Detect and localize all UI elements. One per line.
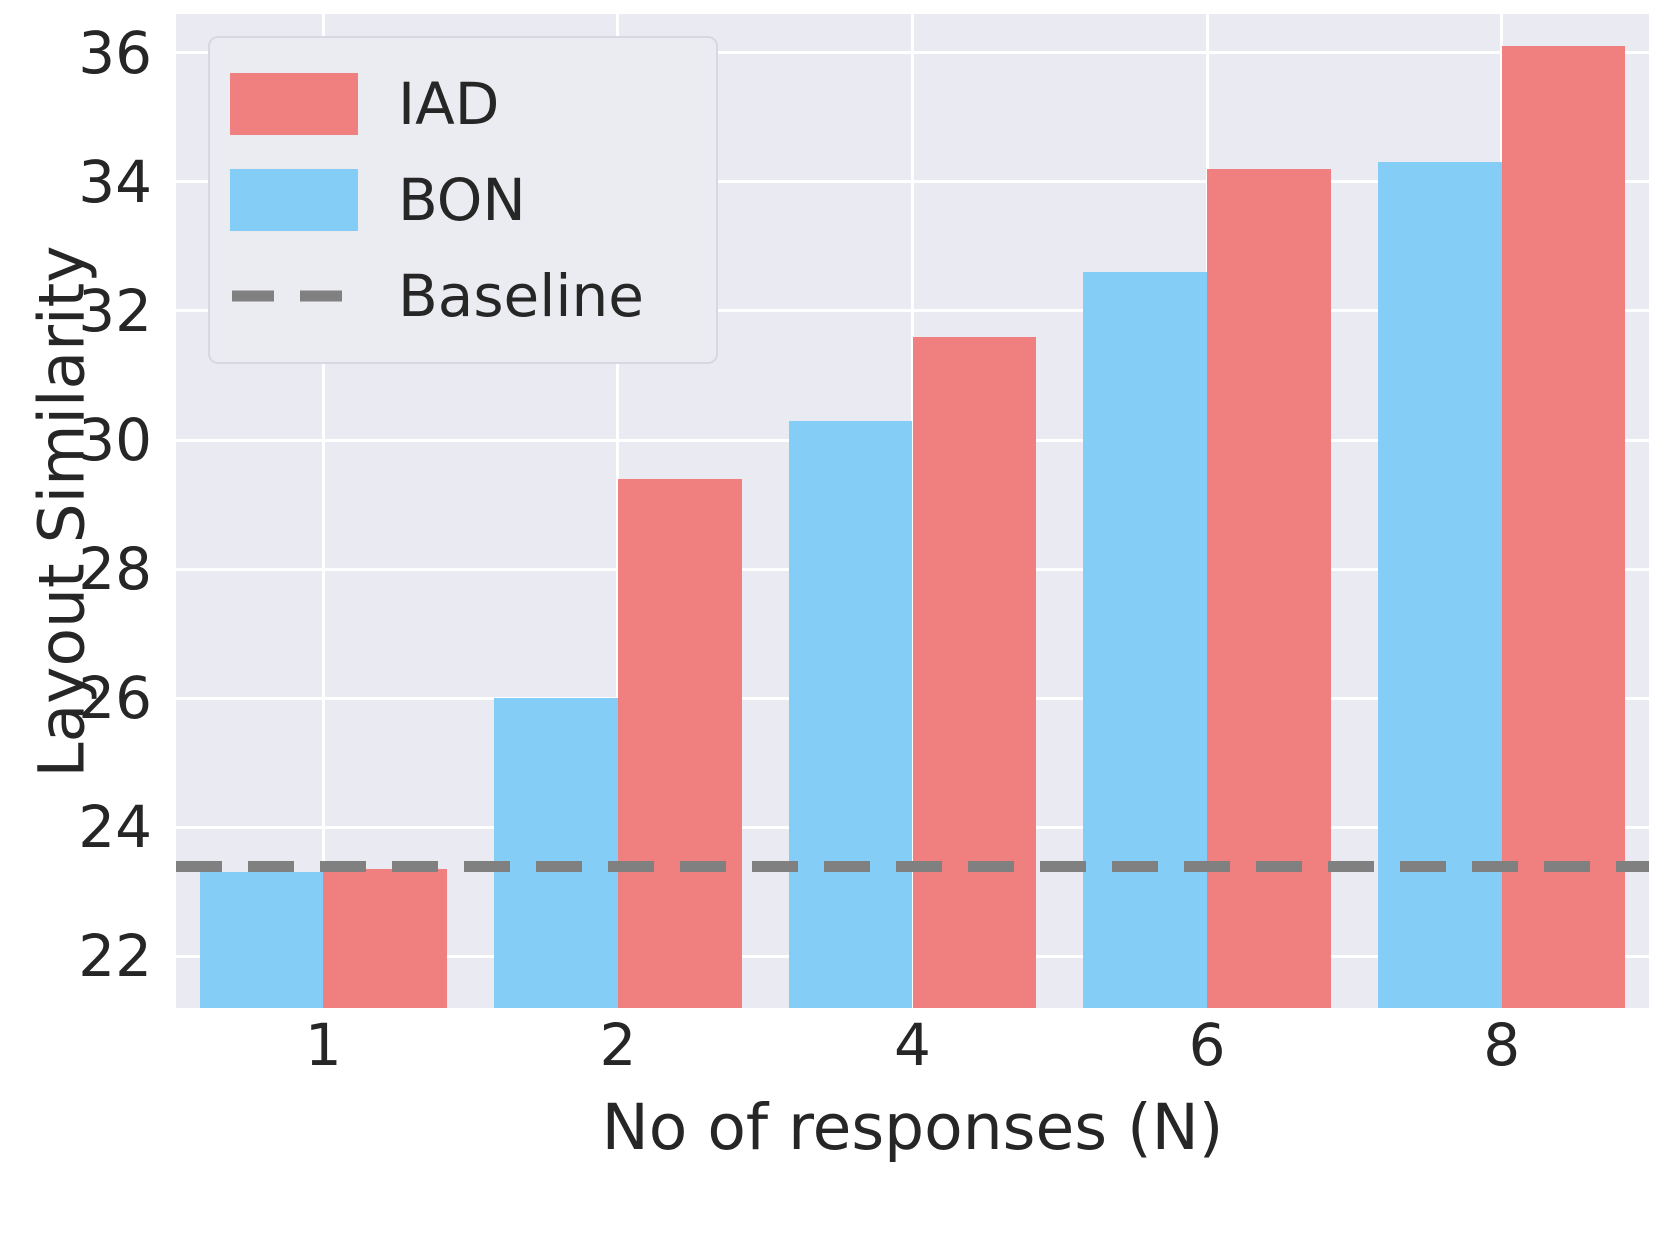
legend-swatch-bon-icon [230, 169, 358, 231]
bar-bon-6 [1083, 272, 1207, 1008]
legend-entry-baseline: Baseline [230, 248, 696, 344]
legend: IAD BON Baseline [208, 36, 718, 364]
x-tick-label-1: 1 [263, 1016, 383, 1074]
x-tick-label-6: 6 [1147, 1016, 1267, 1074]
bar-iad-2 [618, 479, 742, 1008]
legend-swatch-iad-icon [230, 73, 358, 135]
y-tick-label-36: 36 [0, 24, 152, 82]
bar-iad-1 [323, 869, 447, 1008]
bar-chart-figure: 2224262830323436 12468 No of responses (… [0, 0, 1661, 1246]
bar-iad-6 [1207, 169, 1331, 1008]
bar-iad-4 [913, 337, 1037, 1008]
x-axis-title: No of responses (N) [176, 1096, 1649, 1159]
legend-entry-bon: BON [230, 152, 696, 248]
baseline-line [176, 861, 1649, 872]
y-axis-title: Layout Similarity [31, 132, 94, 892]
x-tick-label-8: 8 [1442, 1016, 1562, 1074]
legend-entry-iad: IAD [230, 56, 696, 152]
bar-bon-2 [494, 698, 618, 1008]
legend-label-baseline: Baseline [398, 267, 644, 325]
x-tick-label-2: 2 [558, 1016, 678, 1074]
bar-bon-8 [1378, 162, 1502, 1008]
bar-bon-1 [200, 872, 324, 1008]
bar-bon-4 [789, 421, 913, 1008]
legend-label-bon: BON [398, 171, 526, 229]
legend-dashed-line-icon [230, 265, 358, 327]
legend-label-iad: IAD [398, 75, 499, 133]
y-tick-label-22: 22 [0, 927, 152, 985]
x-tick-label-4: 4 [853, 1016, 973, 1074]
